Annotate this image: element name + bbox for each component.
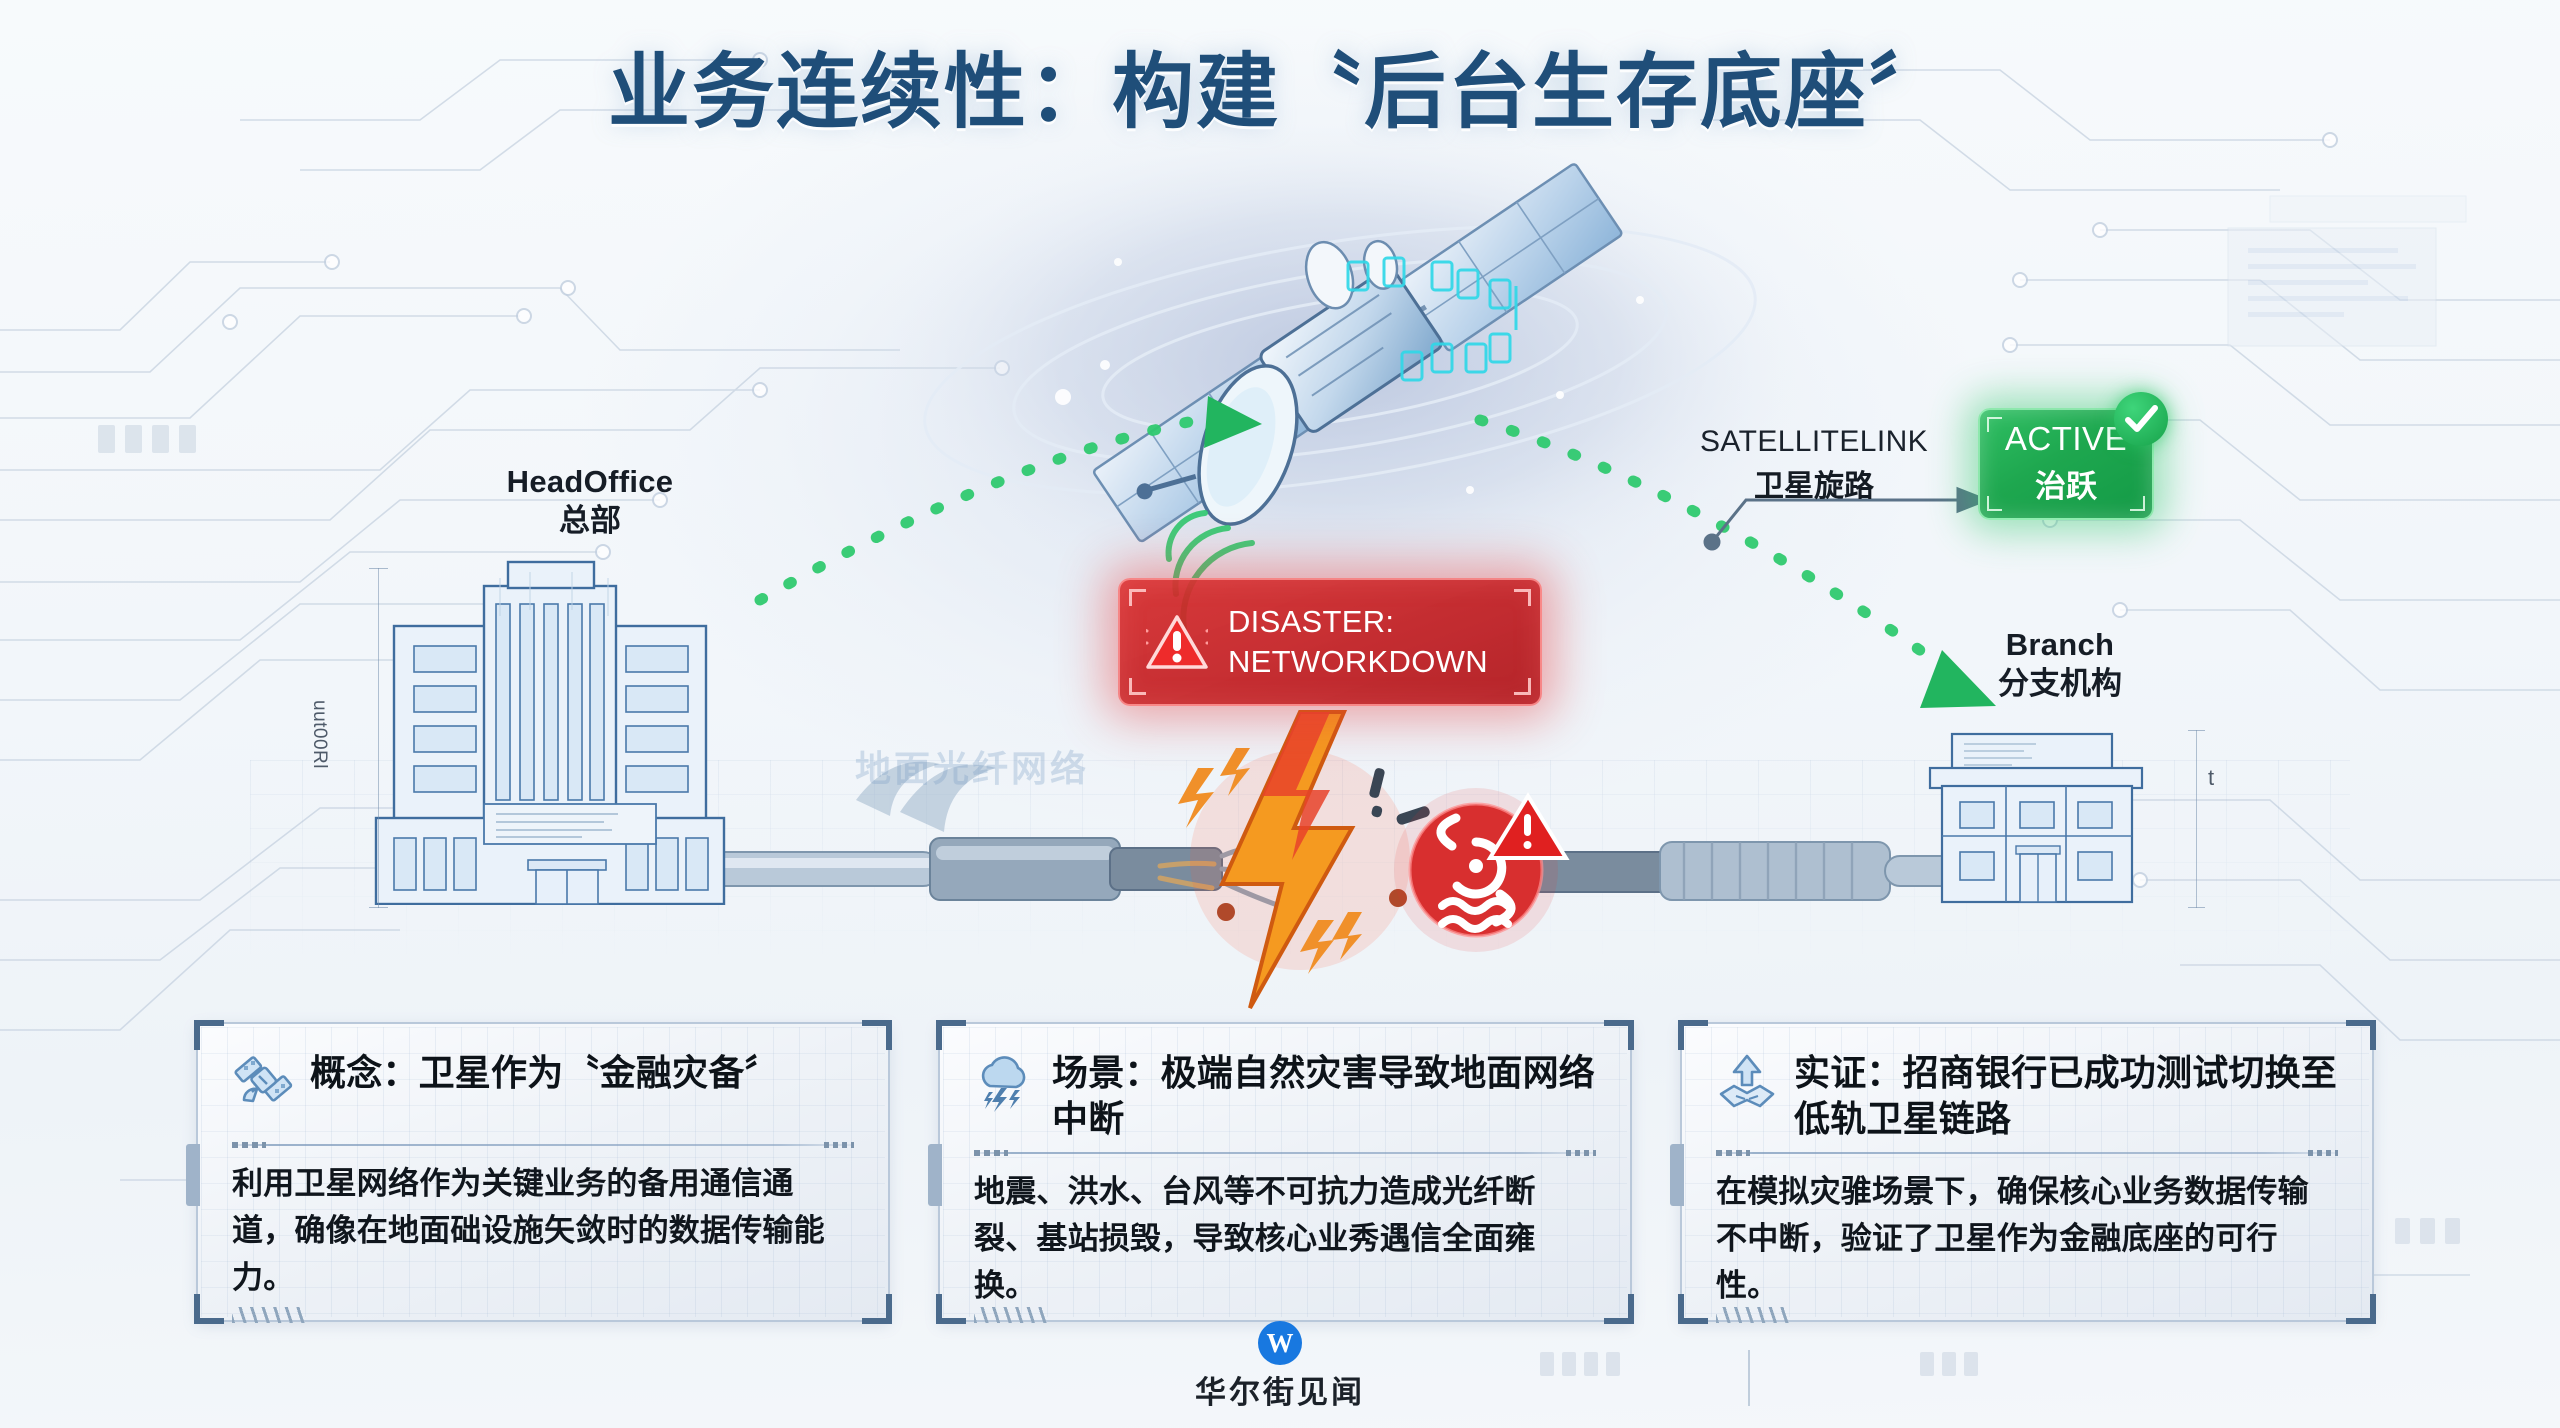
hq-dimension-line [378,568,379,908]
card-title: 场景：极端自然灾害导致地面网络中断 [1052,1050,1596,1142]
card-corner-top-left [936,1020,966,1050]
card-hatch-marks [974,1307,1048,1323]
lightning-bolt [1178,712,1431,1008]
branch-label-en: Branch [1930,625,2190,664]
card-body: 利用卫星网络作为关键业务的备用通信通道，确像在地面础设施矢敛时的数据传输能力。 [232,1160,854,1301]
ground-network-watermark: 地面光纤网络 [855,740,1089,792]
hq-dimension-label: uut00Rl [308,700,330,769]
footer: W 华尔街见闻 [0,1321,2560,1412]
slide-root: 业务连续性：构建〝后台生存底座〞 [0,0,2560,1428]
footer-brand-name: 华尔街见闻 [1195,1367,1365,1412]
disaster-banner-text: DISASTER: NETWORKDOWN [1228,602,1488,681]
card-corner-bottom-right [2346,1294,2376,1324]
card-header: 概念：卫星作为〝金融灾备〞 [232,1050,854,1134]
card-header: 场景：极端自然灾害导致地面网络中断 [974,1050,1596,1142]
branch-dimension-line [2196,730,2197,908]
card-corner-bottom-left [936,1294,966,1324]
card-separator [974,1152,1596,1154]
card-body: 地震、洪水、台风等不可抗力造成光纤断裂、基站损毁，导致核心业秀遇信全面雍换。 [974,1168,1596,1309]
card-scenario: 场景：极端自然灾害导致地面网络中断 地震、洪水、台风等不可抗力造成光纤断裂、基站… [938,1022,1632,1322]
card-body: 在模拟灾骓场景下，确保核心业务数据传输不中断，验证了卫星作为金融底座的可行性。 [1716,1168,2338,1309]
satellite-icon [232,1052,294,1114]
badge-corner-top-left [1987,417,2002,432]
storm-cloud-icon [974,1052,1036,1114]
card-hatch-marks [232,1307,306,1323]
card-corner-top-right [1604,1020,1634,1050]
disaster-corner-bottom-right [1514,678,1531,695]
branch-building [1928,728,2188,908]
branch-dimension-label: t [2208,765,2214,791]
card-corner-bottom-left [194,1294,224,1324]
status-badge-label-en: ACTIVE [2005,422,2127,457]
status-badge-active: ACTIVE 治跃 [1978,408,2154,520]
satellite-link-label: SATELLITELINK 卫星旋路 [1700,425,1928,505]
card-concept: 概念：卫星作为〝金融灾备〞 利用卫星网络作为关键业务的备用通信通道，确像在地面础… [196,1022,890,1322]
disaster-line-2: NETWORKDOWN [1228,642,1488,682]
disaster-banner: DISASTER: NETWORKDOWN [1118,578,1542,706]
card-corner-top-right [862,1020,892,1050]
branch-label-cn: 分支机构 [1930,664,2190,703]
typhoon-flood-icon [1394,788,1566,952]
status-badge-label-cn: 治跃 [2035,461,2097,506]
satellite-link-label-en: SATELLITELINK [1700,425,1928,459]
card-left-notch [186,1144,200,1206]
disaster-corner-top-left [1129,589,1146,606]
card-left-notch [1670,1144,1684,1206]
card-corner-bottom-right [862,1294,892,1324]
satellite-link-label-cn: 卫星旋路 [1700,461,1928,505]
card-evidence: 实证：招商银行已成功测试切换至低轨卫星链路 在模拟灾骓场景下，确保核心业务数据传… [1680,1022,2374,1322]
warning-triangle-icon [1146,613,1208,671]
card-title: 实证：招商银行已成功测试切换至低轨卫星链路 [1794,1050,2338,1142]
disaster-corner-bottom-left [1129,678,1146,695]
head-office-label-en: HeadOffice [440,462,740,501]
badge-corner-bottom-left [1987,496,2002,511]
card-corner-bottom-right [1604,1294,1634,1324]
branch-label: Branch 分支机构 [1930,625,2190,703]
card-header: 实证：招商银行已成功测试切换至低轨卫星链路 [1716,1050,2338,1142]
card-left-notch [928,1144,942,1206]
badge-corner-bottom-right [2130,496,2145,511]
card-corner-top-left [1678,1020,1708,1050]
disaster-corner-top-right [1514,589,1531,606]
card-separator [1716,1152,2338,1154]
check-circle-icon [2114,392,2168,446]
card-corner-bottom-left [1678,1294,1708,1324]
handshake-arrow-icon [1716,1052,1778,1114]
cards-row: 概念：卫星作为〝金融灾备〞 利用卫星网络作为关键业务的备用通信通道，确像在地面础… [196,1022,2374,1322]
head-office-label: HeadOffice 总部 [440,462,740,540]
disaster-line-1: DISASTER: [1228,604,1394,639]
card-hatch-marks [1716,1307,1790,1323]
card-corner-top-right [2346,1020,2376,1050]
head-office-label-cn: 总部 [440,501,740,540]
card-separator [232,1144,854,1146]
card-title: 概念：卫星作为〝金融灾备〞 [310,1050,781,1096]
head-office-building [368,560,732,905]
wallstreetcn-logo: W [1258,1321,1302,1365]
card-corner-top-left [194,1020,224,1050]
